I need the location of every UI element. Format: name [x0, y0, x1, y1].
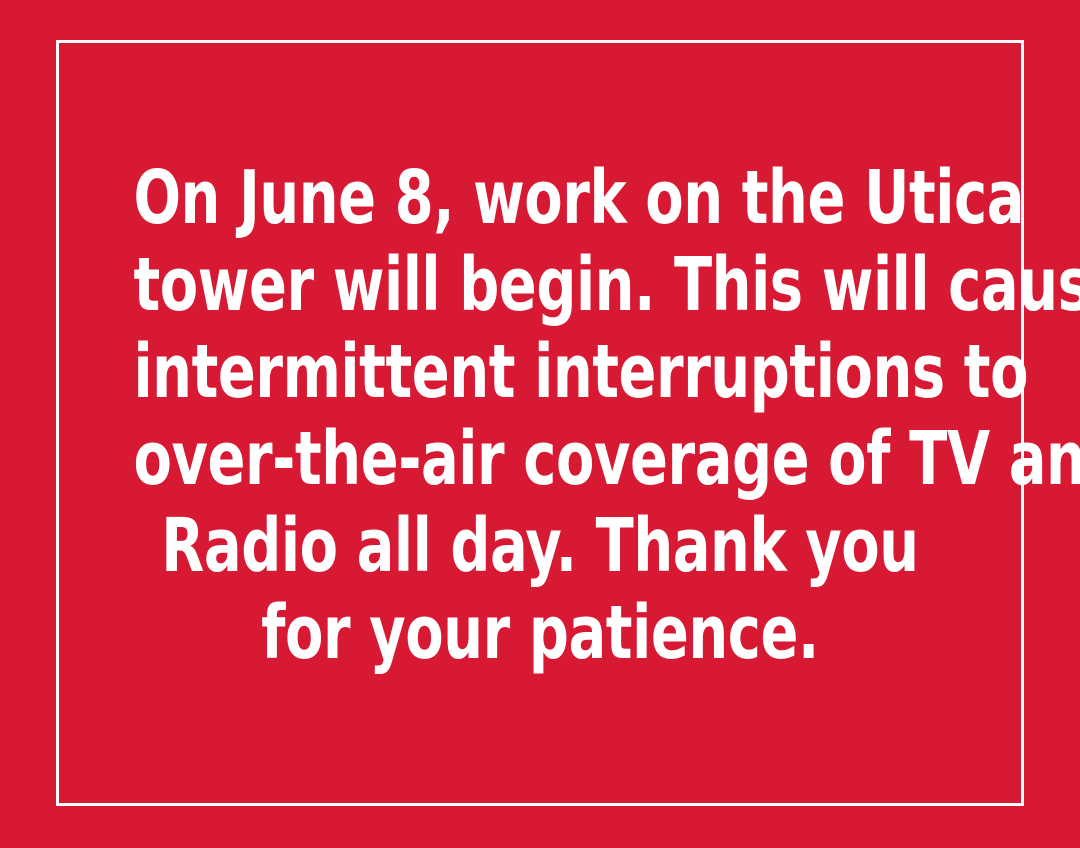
message-line-5: Radio all day. Thank you [133, 503, 946, 590]
message-line-4: over-the-air coverage of TV and [133, 416, 946, 503]
message-line-1: On June 8, work on the Utica [133, 155, 946, 242]
announcement-poster: On June 8, work on the Utica tower will … [0, 0, 1080, 848]
message-line-3: intermittent interruptions to [133, 329, 946, 416]
message-line-2: tower will begin. This will cause [133, 242, 946, 329]
message-line-6: for your patience. [133, 590, 946, 677]
announcement-message: On June 8, work on the Utica tower will … [56, 40, 1024, 806]
